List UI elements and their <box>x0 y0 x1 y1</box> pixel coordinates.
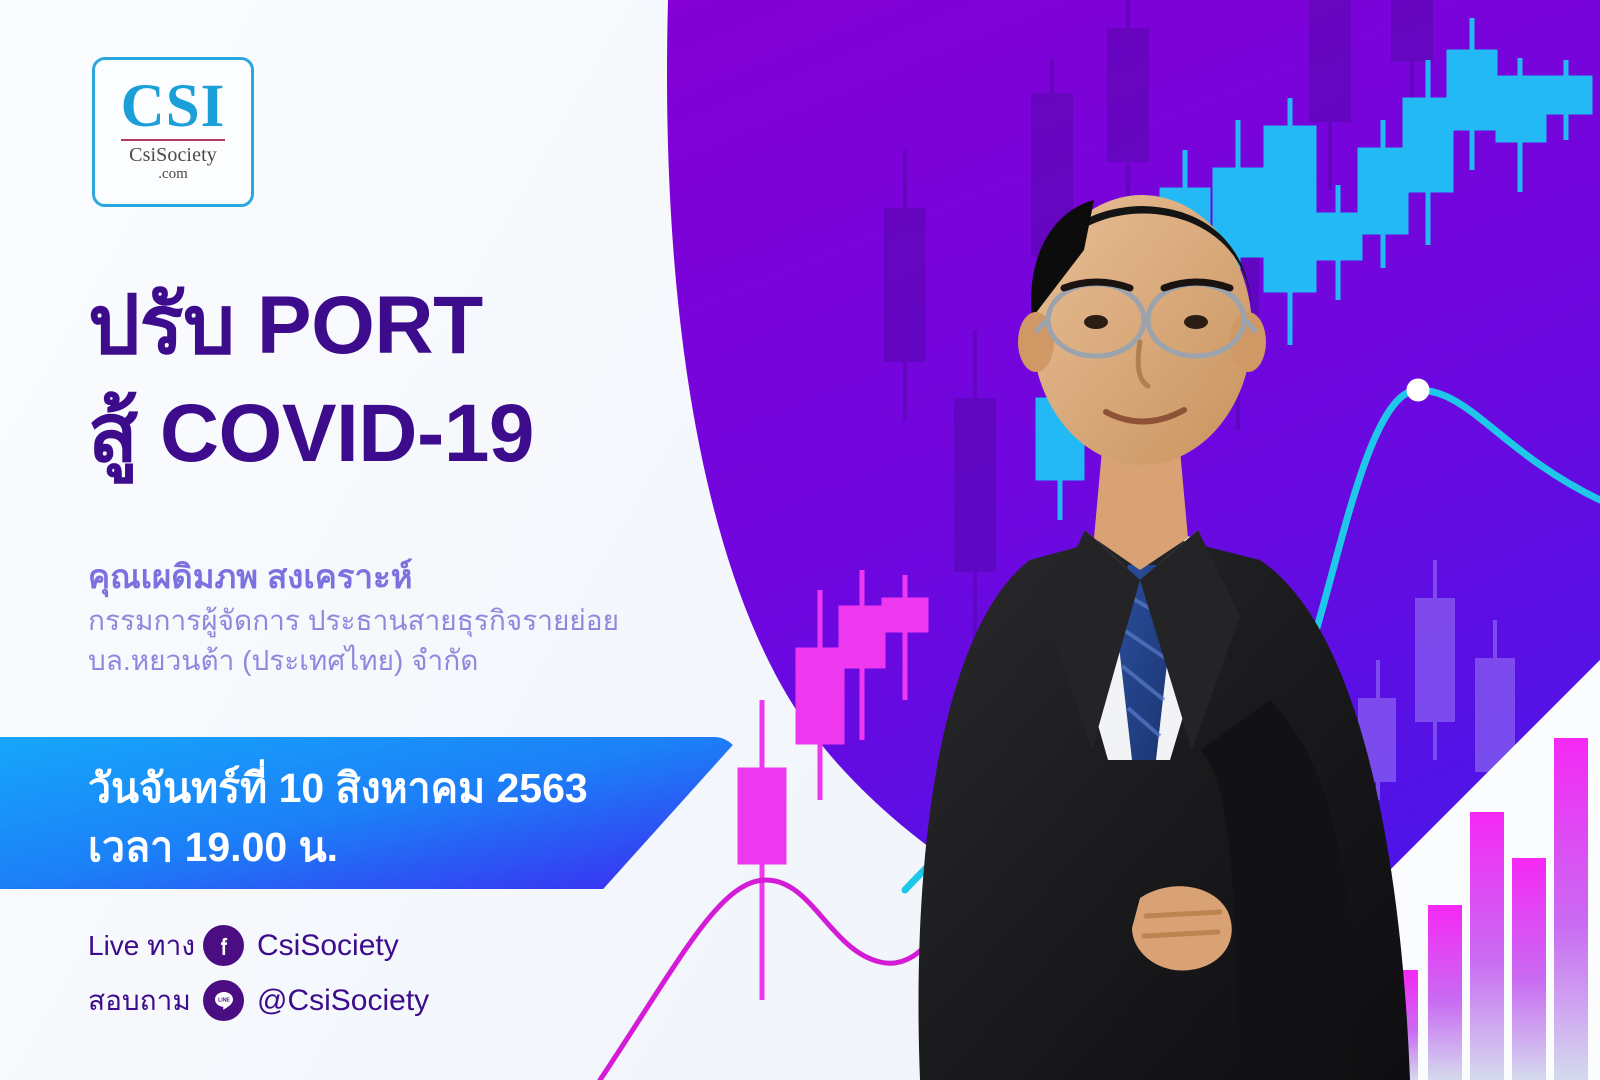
facebook-handle[interactable]: CsiSociety <box>257 929 399 963</box>
speaker-name: คุณเผดิมภพ สงเคราะห์ <box>88 554 748 601</box>
line-label: สอบถาม <box>88 987 203 1015</box>
logo-domain-text: .com <box>158 165 188 183</box>
facebook-row[interactable]: Live ทาง CsiSociety <box>88 918 429 973</box>
speaker-role: กรรมการผู้จัดการ ประธานสายธุรกิจรายย่อย <box>88 601 748 641</box>
headline-line-1: ปรับ PORT <box>88 272 728 380</box>
csi-logo[interactable]: CSI CsiSociety .com <box>92 57 254 207</box>
headline-line-2: สู้ COVID-19 <box>88 380 728 488</box>
social-links: Live ทาง CsiSociety สอบถาม LINE @CsiSoci… <box>88 918 429 1028</box>
logo-main-text: CSI <box>121 78 226 136</box>
line-row[interactable]: สอบถาม LINE @CsiSociety <box>88 973 429 1028</box>
event-date: วันจันทร์ที่ 10 สิงหาคม 2563 <box>88 759 740 818</box>
line-icon[interactable]: LINE <box>203 980 244 1021</box>
facebook-label: Live ทาง <box>88 932 203 960</box>
logo-name-text: CsiSociety <box>129 145 217 165</box>
speaker-info: คุณเผดิมภพ สงเคราะห์ กรรมการผู้จัดการ ปร… <box>88 554 748 680</box>
speaker-photo <box>840 60 1490 1080</box>
speaker-company: บล.หยวนต้า (ประเทศไทย) จำกัด <box>88 641 748 681</box>
logo-divider <box>121 139 225 141</box>
poster-canvas: CSI CsiSociety .com ปรับ PORT สู้ COVID-… <box>0 0 1600 1080</box>
facebook-icon[interactable] <box>203 925 244 966</box>
line-handle[interactable]: @CsiSociety <box>257 984 429 1018</box>
headline: ปรับ PORT สู้ COVID-19 <box>88 272 728 488</box>
line-icon-text: LINE <box>218 997 230 1003</box>
